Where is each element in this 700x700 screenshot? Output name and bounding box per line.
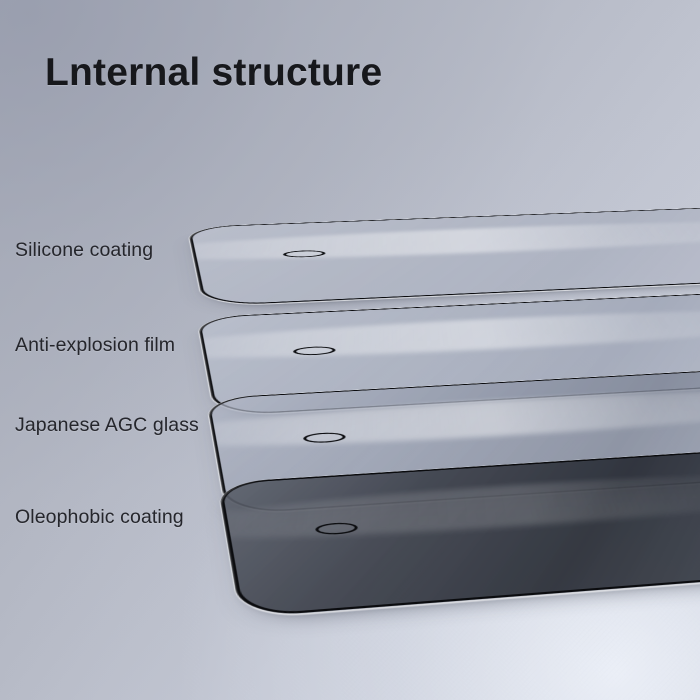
camera-cutout-icon — [282, 250, 327, 258]
layer-glass-body — [217, 448, 700, 618]
layer-edge-thickness — [216, 448, 700, 619]
page-title: Lnternal structure — [45, 51, 382, 95]
screen-protector-layer-1 — [206, 196, 700, 496]
screen-protector-layer-2 — [216, 282, 700, 582]
camera-cutout-icon — [292, 346, 337, 356]
layer-label-anti-explosion-film: Anti-explosion film — [15, 334, 175, 357]
layer-edge-thickness — [205, 369, 700, 517]
layer-label-oleophobic-coating: Oleophobic coating — [15, 506, 184, 529]
layer-glass-body — [197, 292, 700, 416]
layer-panel — [217, 448, 700, 618]
layer-edge-thickness — [186, 207, 700, 308]
layer-edge-thickness — [196, 292, 700, 418]
layer-edge-highlight — [186, 206, 700, 307]
camera-cutout-icon — [302, 432, 348, 444]
layer-glass-body — [206, 368, 700, 515]
layer-glass-body — [187, 207, 700, 307]
product-diagram-stage: Lnternal structure — [0, 0, 700, 700]
layer-panel — [187, 207, 700, 307]
layer-edge-highlight — [216, 447, 700, 618]
screen-protector-layer-3 — [228, 372, 700, 672]
screen-protector-layer-0 — [196, 100, 700, 400]
layer-panel — [206, 368, 700, 515]
layer-edge-highlight — [205, 368, 700, 516]
layer-edge-highlight — [195, 291, 700, 417]
camera-cutout-icon — [314, 522, 360, 536]
layer-label-silicone-coating: Silicone coating — [15, 239, 153, 262]
layer-label-japanese-agc-glass: Japanese AGC glass — [15, 414, 199, 437]
layer-panel — [197, 292, 700, 416]
